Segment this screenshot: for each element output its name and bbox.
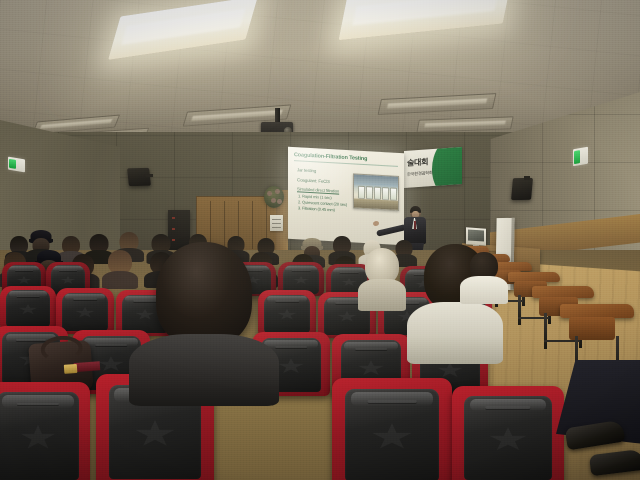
seat	[332, 378, 452, 480]
audience-member	[360, 248, 404, 310]
banner-swoosh	[432, 147, 462, 188]
audience-member	[462, 252, 506, 300]
exit-sign-icon-left	[8, 157, 25, 173]
audience-member	[104, 250, 136, 288]
lecture-hall-photo: 술대회 한국환경공학회 Coagulation-Filtration Testi…	[0, 0, 640, 480]
wall-banner: 술대회 한국환경공학회	[404, 147, 462, 188]
audience-member-foreground	[146, 242, 262, 392]
speaker-bracket-left	[146, 174, 153, 177]
slide-title: Coagulation-Filtration Testing	[294, 152, 398, 167]
seat	[258, 290, 316, 336]
speaker-icon-right	[511, 178, 533, 200]
speaker-bracket-right	[524, 176, 530, 180]
monitor-icon	[466, 227, 486, 245]
door-sign	[270, 215, 283, 231]
seat	[0, 286, 56, 330]
speaker-icon-left	[127, 168, 151, 186]
projector-mount-pole	[275, 108, 280, 123]
banner-title: 술대회	[407, 156, 428, 168]
seat	[452, 386, 564, 480]
exit-sign-icon-right	[573, 147, 588, 167]
seat	[0, 382, 90, 480]
banner-subtitle: 한국환경공학회	[407, 170, 433, 178]
wreath-decoration	[264, 186, 284, 208]
presenter-tie	[414, 221, 417, 230]
